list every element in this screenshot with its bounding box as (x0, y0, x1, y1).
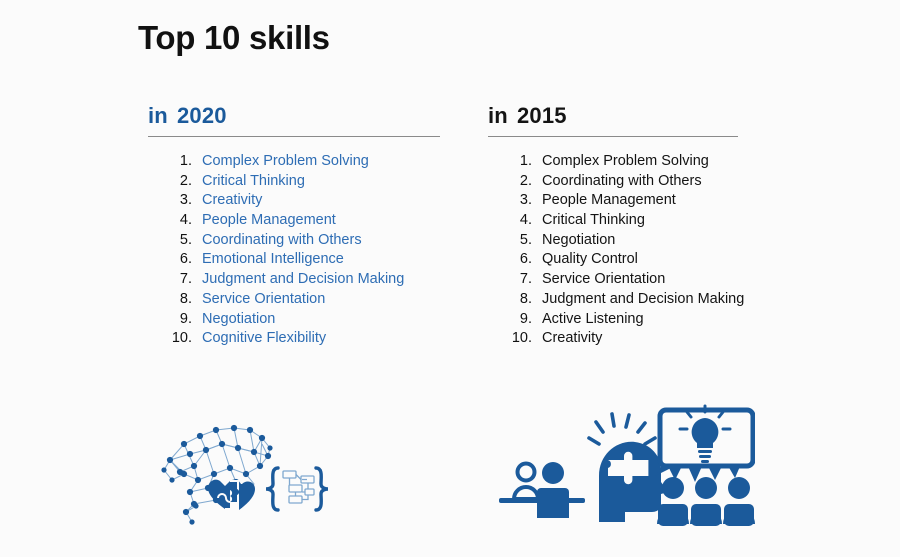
list-item-number: 10. (148, 330, 202, 346)
list-item: 7. Service Orientation (488, 271, 738, 291)
two-people-at-table-icon (499, 462, 585, 518)
column-header-year: 2020 (177, 103, 227, 128)
list-item-number: 10. (488, 330, 542, 346)
list-item: 4. People Management (148, 212, 440, 232)
list-item-number: 8. (488, 291, 542, 307)
list-item: 7. Judgment and Decision Making (148, 271, 440, 291)
brain-network-illustration (150, 408, 330, 543)
list-item: 8. Service Orientation (148, 291, 440, 311)
list-item-number: 9. (488, 311, 542, 327)
list-item: 3. People Management (488, 192, 738, 212)
list-item: 6. Quality Control (488, 251, 738, 271)
list-item-label: Complex Problem Solving (202, 153, 440, 169)
list-item-number: 4. (488, 212, 542, 228)
list-item-number: 1. (148, 153, 202, 169)
list-item-number: 2. (488, 173, 542, 189)
three-people-icon (657, 477, 755, 526)
list-item-number: 2. (148, 173, 202, 189)
list-item-number: 6. (488, 251, 542, 267)
list-item-label: Service Orientation (542, 271, 738, 287)
skills-column-2020: in2020 1. Complex Problem Solving 2. Cri… (148, 103, 440, 350)
list-item-label: People Management (202, 212, 440, 228)
brain-network-icon (161, 425, 272, 525)
collaboration-illustration (495, 398, 755, 543)
column-header-prefix: in (148, 103, 168, 128)
list-item: 10. Cognitive Flexibility (148, 330, 440, 350)
list-item-number: 1. (488, 153, 542, 169)
list-item-label: Coordinating with Others (202, 232, 440, 248)
list-item-number: 7. (488, 271, 542, 287)
list-item-number: 5. (148, 232, 202, 248)
list-item-number: 8. (148, 291, 202, 307)
list-item: 3. Creativity (148, 192, 440, 212)
list-item-label: Active Listening (542, 311, 738, 327)
list-item-label: People Management (542, 192, 738, 208)
skills-list-2015: 1. Complex Problem Solving 2. Coordinati… (488, 137, 738, 350)
list-item-label: Service Orientation (202, 291, 440, 307)
list-item-label: Critical Thinking (542, 212, 738, 228)
skills-column-2015: in2015 1. Complex Problem Solving 2. Coo… (488, 103, 738, 350)
list-item: 2. Critical Thinking (148, 173, 440, 193)
list-item-label: Creativity (202, 192, 440, 208)
column-header-prefix: in (488, 103, 508, 128)
list-item: 10. Creativity (488, 330, 738, 350)
list-item-label: Creativity (542, 330, 738, 346)
skills-list-2020: 1. Complex Problem Solving 2. Critical T… (148, 137, 440, 350)
list-item-label: Critical Thinking (202, 173, 440, 189)
list-item-label: Quality Control (542, 251, 738, 267)
code-braces-flowchart-icon (266, 468, 328, 510)
list-item-number: 4. (148, 212, 202, 228)
list-item: 6. Emotional Intelligence (148, 251, 440, 271)
head-with-puzzle-piece-icon (589, 414, 668, 522)
column-header-2015: in2015 (488, 103, 738, 136)
list-item-label: Negotiation (542, 232, 738, 248)
page-title: Top 10 skills (138, 19, 330, 57)
list-item-label: Complex Problem Solving (542, 153, 738, 169)
list-item-label: Negotiation (202, 311, 440, 327)
list-item: 5. Coordinating with Others (148, 232, 440, 252)
column-header-year: 2015 (517, 103, 567, 128)
list-item: 4. Critical Thinking (488, 212, 738, 232)
list-item: 8. Judgment and Decision Making (488, 291, 738, 311)
list-item-number: 7. (148, 271, 202, 287)
list-item-number: 6. (148, 251, 202, 267)
list-item: 5. Negotiation (488, 232, 738, 252)
heart-puzzle-icon (208, 480, 255, 510)
list-item: 1. Complex Problem Solving (148, 153, 440, 173)
list-item-number: 9. (148, 311, 202, 327)
list-item: 9. Active Listening (488, 311, 738, 331)
speech-bubble-lightbulb-icon (655, 406, 753, 482)
list-item-number: 5. (488, 232, 542, 248)
column-header-2020: in2020 (148, 103, 440, 136)
list-item-label: Coordinating with Others (542, 173, 738, 189)
list-item-number: 3. (488, 192, 542, 208)
list-item: 2. Coordinating with Others (488, 173, 738, 193)
list-item-label: Judgment and Decision Making (202, 271, 440, 287)
list-item: 9. Negotiation (148, 311, 440, 331)
list-item: 1. Complex Problem Solving (488, 153, 738, 173)
list-item-label: Emotional Intelligence (202, 251, 440, 267)
list-item-label: Judgment and Decision Making (542, 291, 744, 307)
list-item-number: 3. (148, 192, 202, 208)
list-item-label: Cognitive Flexibility (202, 330, 440, 346)
